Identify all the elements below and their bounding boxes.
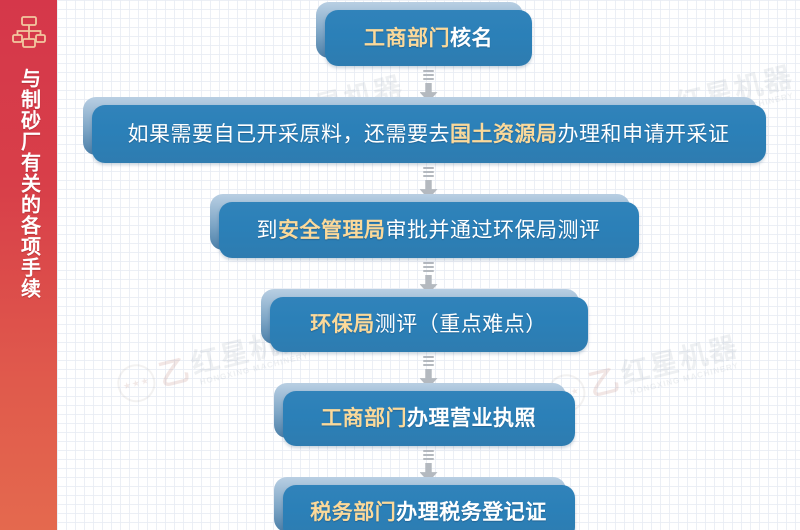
node-label: 工商部门办理营业执照 <box>321 408 536 429</box>
sidebar-banner: 与制砂厂有关的各项手续 <box>0 0 57 530</box>
org-chart-icon <box>11 14 47 50</box>
flow-node-tax-registration[interactable]: 税务部门办理税务登记证 <box>283 485 575 530</box>
node-face: 到安全管理局审批并通过环保局测评 <box>219 202 639 258</box>
node-label-highlight: 安全管理局 <box>278 219 386 242</box>
flow-node-safety-bureau-approval[interactable]: 到安全管理局审批并通过环保局测评 <box>219 202 639 258</box>
node-label-highlight: 工商部门 <box>364 27 450 50</box>
node-label-highlight: 税务部门 <box>310 501 396 524</box>
node-label-plain: 办理税务登记证 <box>396 501 547 524</box>
node-face: 工商部门核名 <box>325 10 532 66</box>
flow-node-business-name-approval[interactable]: 工商部门核名 <box>325 10 532 66</box>
node-label-plain: 测评（重点难点） <box>375 313 547 336</box>
flow-node-business-license[interactable]: 工商部门办理营业执照 <box>283 391 575 446</box>
node-label-highlight: 国土资源局 <box>450 123 558 146</box>
node-face: 环保局测评（重点难点） <box>270 297 588 352</box>
flowchart-page: ★★★ 乙 红星机器 HONGXING MACHINERY ★★★ 乙 红星机器… <box>0 0 800 530</box>
node-label: 工商部门核名 <box>364 28 493 49</box>
sidebar-title: 与制砂厂有关的各项手续 <box>16 68 42 299</box>
flow-container: 工商部门核名 如果需要自己开采原料，还需要去国土资源局办理和申请开采证 <box>57 0 800 530</box>
node-label-highlight: 环保局 <box>310 313 375 336</box>
node-label-plain: 办理营业执照 <box>407 407 536 430</box>
node-label-plain: 办理和申请开采证 <box>558 123 730 146</box>
node-label: 环保局测评（重点难点） <box>310 314 547 335</box>
node-label-highlight: 工商部门 <box>321 407 407 430</box>
node-label-plain: 到 <box>257 219 279 242</box>
node-label-plain: 核名 <box>450 27 493 50</box>
flow-node-environmental-assessment[interactable]: 环保局测评（重点难点） <box>270 297 588 352</box>
node-face: 税务部门办理税务登记证 <box>283 485 575 530</box>
node-label-plain: 如果需要自己开采原料，还需要去 <box>128 123 451 146</box>
flow-node-mining-permit[interactable]: 如果需要自己开采原料，还需要去国土资源局办理和申请开采证 <box>92 105 766 163</box>
node-label: 如果需要自己开采原料，还需要去国土资源局办理和申请开采证 <box>128 124 730 145</box>
node-label: 到安全管理局审批并通过环保局测评 <box>257 220 601 241</box>
node-label-plain: 审批并通过环保局测评 <box>386 219 601 242</box>
node-face: 如果需要自己开采原料，还需要去国土资源局办理和申请开采证 <box>92 105 766 163</box>
node-label: 税务部门办理税务登记证 <box>310 502 547 523</box>
node-face: 工商部门办理营业执照 <box>283 391 575 446</box>
